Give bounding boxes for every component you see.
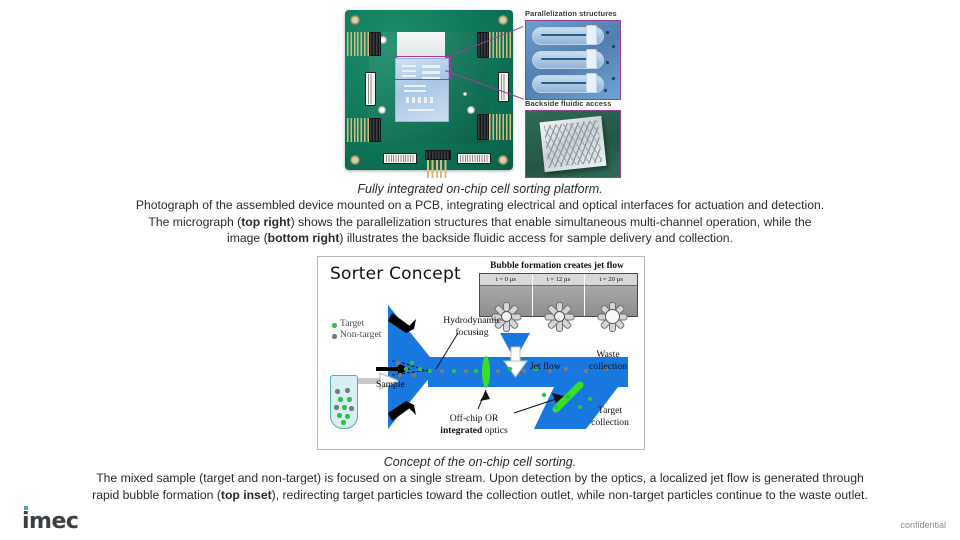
label-hydrodynamic-focusing: Hydrodynamic focusing: [430, 315, 514, 338]
pin-header-left-bottom: [347, 118, 369, 142]
label-target-line2: collection: [591, 417, 629, 428]
label-optics: Off-chip OR integrated optics: [422, 413, 526, 436]
label-waste-line2: collection: [589, 361, 627, 372]
label-sample: Sample: [376, 379, 405, 391]
figure2-caption: Concept of the on-chip cell sorting. The…: [0, 454, 960, 503]
inset-top-label: Parallelization structures: [525, 9, 617, 18]
figure1-caption-title: Fully integrated on-chip cell sorting pl…: [0, 181, 960, 197]
caption-emphasis: top inset: [221, 488, 272, 502]
figure1-caption-line2: The micrograph (top right) shows the par…: [0, 214, 960, 231]
figure1-caption-line1: Photograph of the assembled device mount…: [0, 197, 960, 214]
mount-hole: [350, 15, 360, 25]
fpc-connector-left: [365, 72, 376, 106]
label-waste-line1: Waste: [596, 349, 619, 360]
figure1-caption-line3: image (bottom right) illustrates the bac…: [0, 230, 960, 247]
label-optics-line1: Off-chip OR: [450, 413, 499, 424]
connector-right-bottom: [477, 114, 489, 140]
legend-label-target: Target: [340, 318, 364, 330]
label-hydrodynamic: Hydrodynamic: [443, 315, 501, 326]
connector-bottom: [425, 150, 451, 160]
connector-left-bottom: [369, 118, 381, 142]
figure-sorter-concept: Sorter Concept Bubble formation creates …: [317, 256, 645, 450]
figure2-caption-line1: The mixed sample (target and non-target)…: [0, 470, 960, 487]
imec-logo: imec: [22, 506, 102, 532]
confidential-label: confidential: [900, 520, 946, 530]
figure-pcb-photo: Parallelization structures Backside flui…: [345, 4, 620, 176]
caption-emphasis: top right: [241, 215, 290, 229]
fpc-connector-right: [498, 72, 509, 102]
legend-dot-target: [332, 323, 337, 328]
pcb-via: [467, 106, 475, 114]
label-focusing: focusing: [455, 327, 488, 338]
mount-hole: [498, 15, 508, 25]
mount-hole: [498, 155, 508, 165]
sample-tube: [330, 375, 356, 435]
pcb-via: [378, 106, 386, 114]
caption-text: The micrograph (: [148, 215, 241, 229]
label-waste-collection: Waste collection: [576, 349, 640, 372]
pin-header-left-top: [347, 32, 369, 56]
caption-text: ), redirecting target particles toward t…: [272, 488, 868, 502]
legend-label-nontarget: Non-target: [340, 329, 381, 341]
slide-canvas: Parallelization structures Backside flui…: [0, 0, 960, 540]
inset-parallelization-structures: [525, 20, 621, 100]
mount-hole: [350, 155, 360, 165]
pcb-board-image: [345, 10, 513, 170]
label-target-line1: Target: [598, 405, 622, 416]
label-optics-line2: optics: [482, 425, 507, 436]
caption-emphasis: bottom right: [268, 231, 340, 245]
caption-text: ) illustrates the backside fluidic acces…: [339, 231, 733, 245]
caption-text: image (: [227, 231, 268, 245]
pcb-via: [463, 92, 467, 96]
figure2-caption-line2: rapid bubble formation (top inset), redi…: [0, 487, 960, 504]
connector-left-top: [369, 32, 381, 56]
pin-header-right-bottom: [489, 114, 511, 140]
logo-wordmark: imec: [22, 509, 78, 534]
figure1-caption: Fully integrated on-chip cell sorting pl…: [0, 181, 960, 247]
optics-detection-laser: [482, 356, 490, 388]
inset-bottom-label: Backside fluidic access: [525, 99, 612, 108]
fpc-connector-bottom-right: [457, 153, 491, 164]
inset-backside-fluidic-access: [525, 110, 621, 178]
caption-text: rapid bubble formation (: [92, 488, 221, 502]
label-target-collection: Target collection: [580, 405, 640, 428]
label-optics-emphasis: integrated: [440, 425, 482, 436]
legend-dot-nontarget: [332, 334, 337, 339]
label-jet-flow: Jet flow: [530, 361, 561, 373]
figure2-caption-title: Concept of the on-chip cell sorting.: [0, 454, 960, 470]
inset-callout-box: [393, 56, 451, 80]
fpc-connector-bottom-left: [383, 153, 417, 164]
pin-header-bottom: [427, 158, 449, 178]
caption-text: ) shows the parallelization structures t…: [291, 215, 812, 229]
